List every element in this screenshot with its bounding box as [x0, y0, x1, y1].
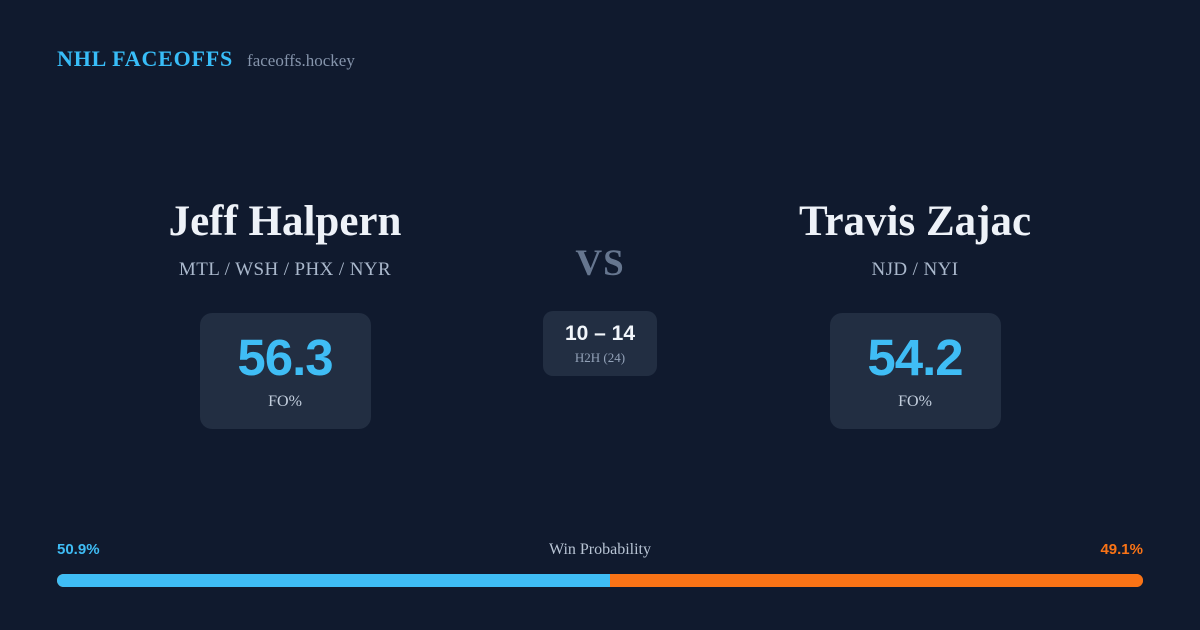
player-teams-right: NJD / NYI — [872, 258, 959, 282]
win-probability-bar-left-fill — [57, 574, 610, 587]
head-to-head-caption: H2H (24) — [575, 350, 625, 366]
stat-value-left: 56.3 — [237, 331, 332, 385]
player-name-left: Jeff Halpern — [169, 196, 402, 248]
win-probability-left-value: 50.9% — [57, 541, 100, 558]
versus-column: VS 10 – 14 H2H (24) — [510, 196, 690, 376]
win-probability-section: 50.9% Win Probability 49.1% — [57, 541, 1143, 587]
win-probability-right-value: 49.1% — [1100, 541, 1143, 558]
win-probability-title: Win Probability — [57, 541, 1143, 559]
head-to-head-record: 10 – 14 — [565, 322, 635, 346]
win-probability-labels: 50.9% Win Probability 49.1% — [57, 541, 1143, 561]
player-teams-left: MTL / WSH / PHX / NYR — [179, 258, 391, 282]
vs-label: VS — [575, 244, 624, 284]
head-to-head-card: 10 – 14 H2H (24) — [543, 311, 657, 376]
stat-card-left: 56.3 FO% — [200, 313, 371, 429]
player-card-right: Travis Zajac NJD / NYI 54.2 FO% — [690, 196, 1140, 429]
stat-card-right: 54.2 FO% — [830, 313, 1001, 429]
stat-label-right: FO% — [898, 392, 932, 412]
win-probability-bar-right-fill — [610, 574, 1143, 587]
matchup-section: Jeff Halpern MTL / WSH / PHX / NYR 56.3 … — [0, 196, 1200, 429]
brand-header: NHL FACEOFFS faceoffs.hockey — [57, 46, 355, 72]
player-name-right: Travis Zajac — [799, 196, 1031, 248]
player-card-left: Jeff Halpern MTL / WSH / PHX / NYR 56.3 … — [60, 196, 510, 429]
win-probability-bar — [57, 574, 1143, 587]
stat-value-right: 54.2 — [867, 331, 962, 385]
stat-label-left: FO% — [268, 392, 302, 412]
brand-title: NHL FACEOFFS — [57, 46, 233, 72]
brand-domain: faceoffs.hockey — [247, 51, 355, 71]
